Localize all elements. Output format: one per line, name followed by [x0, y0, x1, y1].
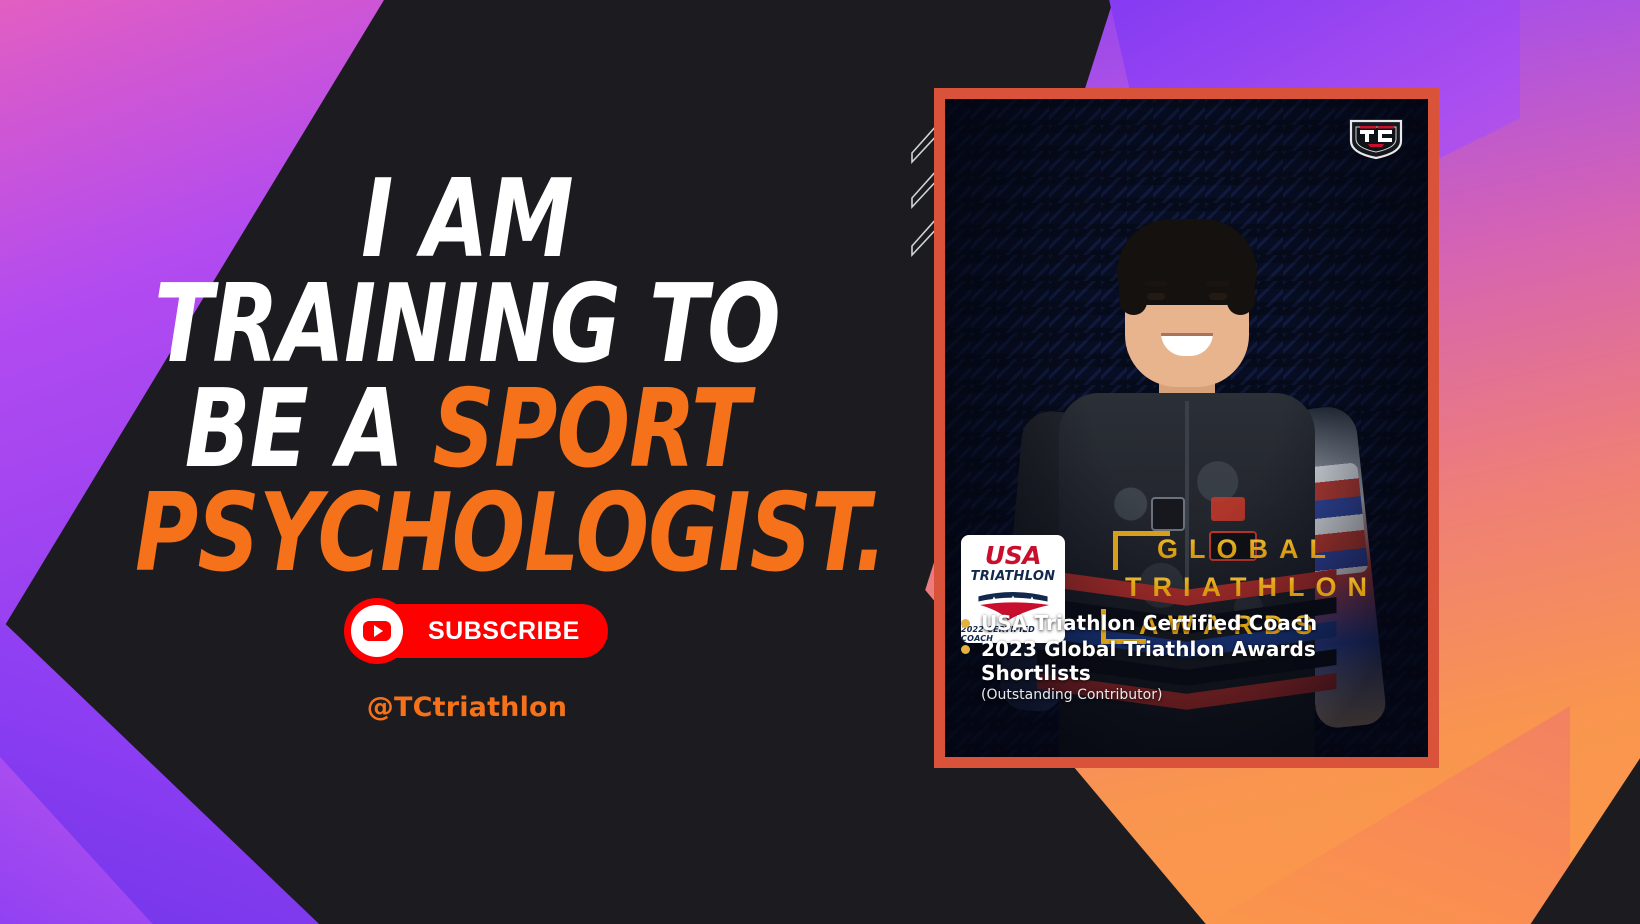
- youtube-badge-circle: [351, 605, 403, 657]
- usat-subtitle: TRIATHLON: [971, 569, 1056, 584]
- youtube-play-icon: [363, 621, 391, 641]
- list-item: 2023 Global Triathlon Awards Shortlists: [961, 637, 1421, 685]
- bullet-dot-icon: [961, 645, 970, 654]
- credentials-list: USA Triathlon Certified Coach 2023 Globa…: [961, 611, 1421, 703]
- usat-title: USA: [985, 543, 1041, 568]
- poster-canvas: I AM TRAINING TO BE A SPORT PSYCHOLOGIST…: [0, 0, 1640, 924]
- headline-line-1: I AM TRAINING TO: [135, 168, 799, 378]
- subscribe-cta[interactable]: SUBSCRIBE: [352, 601, 608, 661]
- card-inner: USA TRIATHLON 2022 CERTIFIED COACH GLOBA…: [945, 99, 1428, 757]
- subscribe-button-label: SUBSCRIBE: [428, 617, 580, 646]
- tc-shield-logo: [1348, 115, 1404, 161]
- athlete-photo-card: USA TRIATHLON 2022 CERTIFIED COACH GLOBA…: [934, 88, 1439, 768]
- credential-text: USA Triathlon Certified Coach: [981, 611, 1317, 635]
- credential-text: 2023 Global Triathlon Awards Shortlists: [981, 637, 1421, 685]
- headline-line-3: PSYCHOLOGIST.: [135, 482, 799, 587]
- subscribe-button[interactable]: SUBSCRIBE: [352, 604, 608, 658]
- social-handle: @TCtriathlon: [52, 692, 882, 723]
- page-title: I AM TRAINING TO BE A SPORT PSYCHOLOGIST…: [135, 168, 799, 587]
- list-item: USA Triathlon Certified Coach: [961, 611, 1421, 635]
- gta-line-2: TRIATHLON: [1125, 567, 1378, 607]
- youtube-badge: [344, 598, 410, 664]
- headline-line-2: BE A SPORT: [135, 378, 799, 483]
- gta-line-1: GLOBAL: [1157, 529, 1337, 569]
- credential-subtext: (Outstanding Contributor): [981, 687, 1421, 703]
- bullet-dot-icon: [961, 619, 970, 628]
